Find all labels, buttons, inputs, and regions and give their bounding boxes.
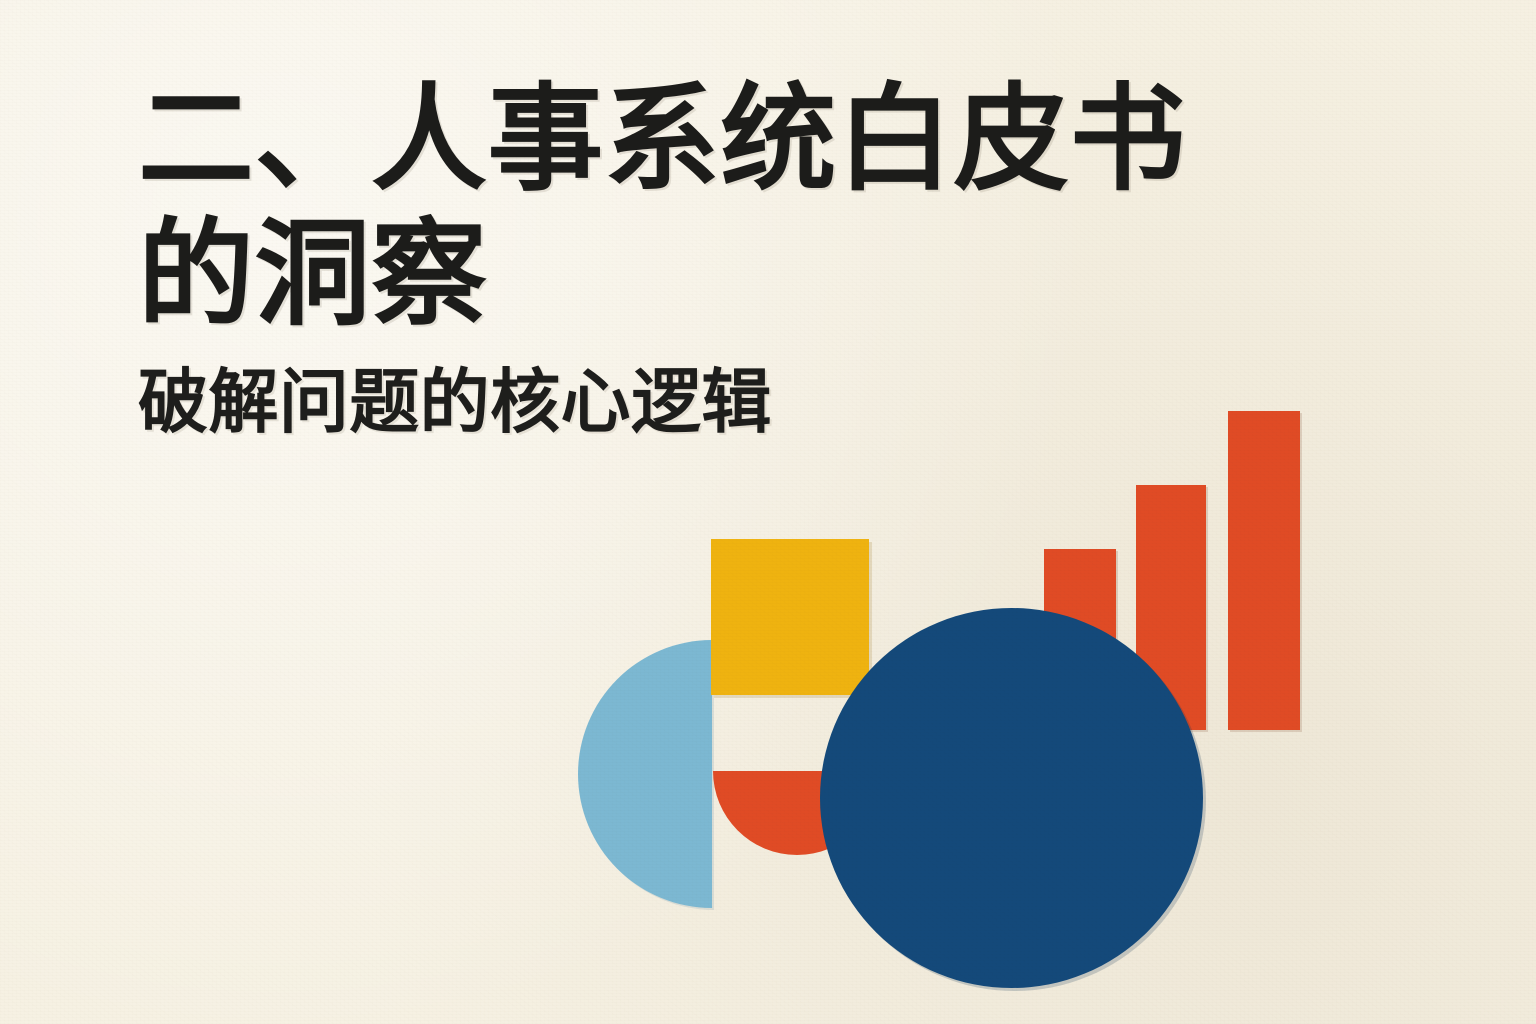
bar-chart-bar-3 bbox=[1228, 411, 1300, 730]
light-blue-half-circle-shape bbox=[578, 640, 712, 908]
navy-circle-shape bbox=[820, 608, 1203, 988]
slide-canvas: 二、人事系统白皮书 的洞察 破解问题的核心逻辑 bbox=[0, 0, 1536, 1024]
page-subtitle: 破解问题的核心逻辑 bbox=[138, 363, 1186, 441]
page-title: 二、人事系统白皮书 的洞察 bbox=[138, 72, 1186, 341]
yellow-square-shape bbox=[711, 539, 869, 695]
title-block: 二、人事系统白皮书 的洞察 破解问题的核心逻辑 bbox=[138, 72, 1186, 441]
